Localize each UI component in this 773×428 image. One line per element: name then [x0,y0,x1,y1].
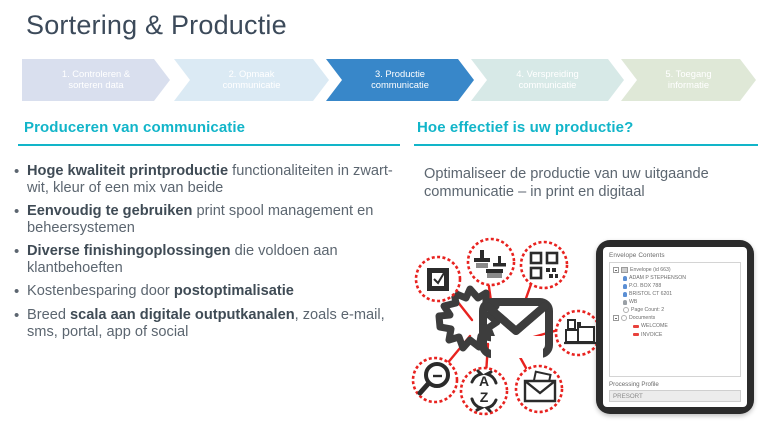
tablet-screen: Envelope Contents Envelope (id 663) ADAM… [603,247,747,407]
list-item-bold: Eenvoudig te gebruiken [27,203,192,219]
process-step-1-line2: sorteren data [62,80,130,91]
bullet-marker: • [14,307,27,325]
process-step-3-active[interactable]: 3. Productie communicatie [326,59,474,101]
bullet-marker: • [14,243,27,261]
list-item-bold: scala aan digitale outputkanalen [70,307,295,323]
list-item: • Breed scala aan digitale outputkanalen… [14,307,412,341]
process-step-5[interactable]: 5. Toegang informatie [621,59,756,101]
expander-icon[interactable] [613,267,619,273]
a-z-sort-icon: A Z [461,368,507,414]
left-heading-rule [18,144,400,146]
tree-item-label: INVOICE [641,331,662,339]
folder-icon [621,267,628,273]
person-icon [623,276,627,281]
person-icon [623,284,627,289]
tree-item[interactable]: Page Count: 2 [613,306,737,314]
inserter-machine-icon [556,311,600,355]
tree-item-label: WB [629,298,637,306]
list-item-bold: postoptimalisatie [174,283,294,299]
benefits-list: • Hoge kwaliteit printproductie function… [14,163,412,347]
list-item-text: Hoge kwaliteit printproductie functional… [27,163,412,197]
tree-item[interactable]: INVOICE [613,331,737,339]
right-heading-rule [414,144,758,146]
page-count-icon [623,307,629,313]
process-step-5-line2: informatie [665,80,711,91]
processing-profile-label: Processing Profile [609,381,741,388]
process-step-1[interactable]: 1. Controleren & sorteren data [22,59,170,101]
list-item-text: Breed scala aan digitale outputkanalen, … [27,307,412,341]
slide-canvas: Sortering & Productie 1. Controleren & s… [0,0,773,428]
tree-item[interactable]: Envelope (id 663) [613,266,737,274]
person-icon [623,292,627,297]
list-item: • Kostenbesparing door postoptimalisatie [14,283,412,301]
open-envelope-icon [516,366,562,412]
bullet-marker: • [14,283,27,301]
list-item: • Eenvoudig te gebruiken print spool man… [14,203,412,237]
tree-item-label: Envelope (id 663) [630,266,671,274]
process-step-3-line2: communicatie [371,80,429,91]
list-item-text: Eenvoudig te gebruiken print spool manag… [27,203,412,237]
bullet-marker: • [14,163,27,181]
document-icon [633,325,639,328]
list-item-bold: Diverse finishingoplossingen [27,243,231,259]
list-item-bold: Hoge kwaliteit printproductie [27,163,228,179]
production-workflow-illustration: A Z [408,232,608,418]
expander-icon[interactable] [613,315,619,321]
tree-item[interactable]: BRISTOL CT 6201 [613,290,737,298]
right-column-paragraph: Optimaliseer de productie van uw uitgaan… [424,166,744,201]
page-title: Sortering & Productie [26,10,287,41]
tree-item[interactable]: ADAM P STEPHENSON [613,274,737,282]
process-steps: 1. Controleren & sorteren data 2. Opmaak… [22,59,756,101]
list-item: • Hoge kwaliteit printproductie function… [14,163,412,197]
person-icon [623,300,627,305]
process-step-4[interactable]: 4. Verspreiding communicatie [471,59,624,101]
tree-item-label: BRISTOL CT 6201 [629,290,672,298]
bullet-marker: • [14,203,27,221]
right-column-heading: Hoe effectief is uw productie? [417,119,633,136]
document-check-icon [416,257,460,301]
envelope-contents-tree: Envelope (id 663) ADAM P STEPHENSON P.O.… [609,262,741,377]
document-icon [633,333,639,336]
tree-item[interactable]: Documents [613,314,737,322]
tree-item-label: Documents [629,314,655,322]
list-item-text: Diverse finishingoplossingen die voldoen… [27,243,412,277]
tree-item[interactable]: P.O. BOX 788 [613,282,737,290]
a-z-letter-bottom: Z [480,389,489,405]
tree-item-label: ADAM P STEPHENSON [629,274,686,282]
qr-code-icon [521,242,567,288]
tablet-device: Envelope Contents Envelope (id 663) ADAM… [596,240,754,414]
list-item-pre: Kostenbesparing door [27,283,174,299]
tree-item-label: P.O. BOX 788 [629,282,661,290]
tree-item-label: Page Count: 2 [631,306,664,314]
magnifier-icon [413,358,457,402]
list-item-text: Kostenbesparing door postoptimalisatie [27,283,412,300]
process-step-4-line2: communicatie [516,80,579,91]
stamp-icon [468,239,514,285]
list-item: • Diverse finishingoplossingen die voldo… [14,243,412,277]
documents-icon [621,315,627,321]
process-step-2[interactable]: 2. Opmaak communicatie [174,59,329,101]
envelope-contents-title: Envelope Contents [609,252,741,259]
processing-profile-value[interactable]: PRESORT [609,390,741,402]
list-item-pre: Breed [27,307,70,323]
process-step-2-line2: communicatie [223,80,281,91]
tree-item[interactable]: WELCOME [613,322,737,330]
left-column-heading: Produceren van communicatie [24,119,245,136]
tree-item-label: WELCOME [641,322,668,330]
tree-item[interactable]: WB [613,298,737,306]
processing-profile-section: Processing Profile PRESORT [609,381,741,402]
